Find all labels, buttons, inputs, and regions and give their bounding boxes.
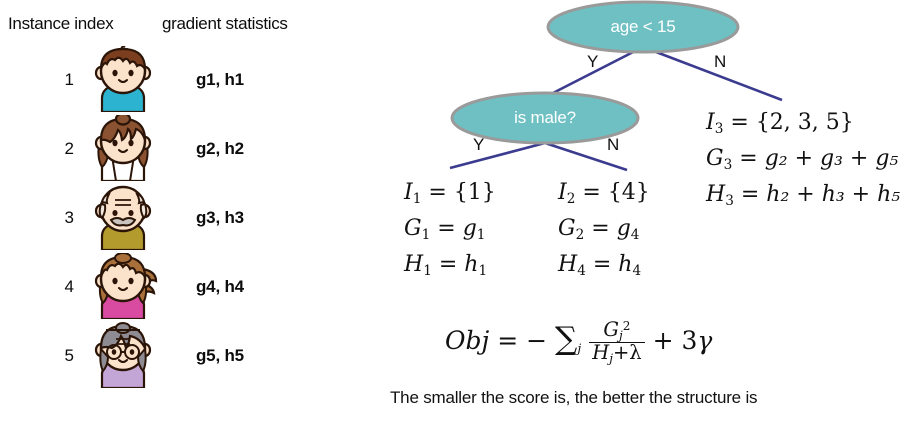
edge-label-root-yes: Y (587, 52, 598, 72)
tree-edge-child-yes (450, 143, 545, 168)
objective-formula: Obj = − ∑j Gj2 Hj+λ + 3γ (445, 320, 712, 365)
leaf1-G-symbol: G (404, 216, 422, 241)
leaf1-I-subscript: 1 (413, 191, 422, 207)
leaf3-g-terms: g₂ + g₃ + g₅ (765, 146, 899, 171)
tree-edge-root-no (643, 47, 782, 100)
leaf2-H-symbol: H (558, 252, 577, 277)
leaf2-I-subscript: 2 (567, 191, 576, 207)
objective-sigma-subscript: j (577, 340, 581, 355)
leaf3-H-subscript: 3 (725, 192, 734, 208)
leaf-1-statistics: I1 = {1} G1 = g1 H1 = h1 (404, 178, 496, 285)
objective-sigma: ∑ (555, 321, 577, 357)
leaf2-H-subscript: 4 (577, 262, 586, 278)
objective-gamma-coefficient: 3 (682, 326, 698, 355)
leaf1-G-subscript: 1 (422, 227, 431, 243)
objective-den-base: H (592, 341, 609, 364)
edge-label-child-yes: Y (473, 135, 484, 155)
tree-node-root-label: age < 15 (543, 17, 743, 37)
leaf2-G-subscript: 2 (576, 227, 585, 243)
leaf3-G-symbol: G (706, 146, 724, 171)
objective-equals: = (497, 326, 518, 355)
leaf3-h-terms: h₂ + h₃ + h₅ (766, 182, 900, 207)
objective-gamma-symbol: γ (697, 326, 712, 355)
leaf-2-gradient-sum: G2 = g4 (558, 214, 650, 250)
leaf-1-gradient-sum: G1 = g1 (404, 214, 496, 250)
leaf2-g-term-subscript: 4 (631, 227, 640, 243)
leaf-3-instance-set: I3 = {2, 3, 5} (706, 108, 900, 144)
edge-label-child-no: N (607, 135, 619, 155)
objective-minus-sign: − (526, 326, 547, 355)
leaf2-h-term-subscript: 4 (632, 262, 641, 278)
leaf-2-instance-set: I2 = {4} (558, 178, 650, 214)
leaf1-H-subscript: 1 (423, 262, 432, 278)
leaf1-g-term: g (463, 216, 477, 241)
leaf-2-hessian-sum: H4 = h4 (558, 250, 650, 286)
leaf2-I-symbol: I (558, 180, 567, 205)
leaf-1-hessian-sum: H1 = h1 (404, 250, 496, 286)
leaf-2-statistics: I2 = {4} G2 = g4 H4 = h4 (558, 178, 650, 285)
leaf3-I-value: {2, 3, 5} (756, 110, 854, 135)
leaf1-h-term: h (464, 252, 478, 277)
objective-plus-sign: + (653, 326, 674, 355)
leaf-3-statistics: I3 = {2, 3, 5} G3 = g₂ + g₃ + g₅ H3 = h₂… (706, 108, 900, 215)
objective-num-base: G (603, 318, 619, 341)
caption-text: The smaller the score is, the better the… (390, 388, 757, 408)
edge-label-root-no: N (714, 52, 726, 72)
leaf2-I-value: {4} (608, 180, 650, 205)
tree-node-is-male-label: is male? (445, 108, 645, 128)
objective-fraction: Gj2 Hj+λ (589, 320, 644, 365)
leaf1-h-term-subscript: 1 (478, 262, 487, 278)
leaf-3-hessian-sum: H3 = h₂ + h₃ + h₅ (706, 180, 900, 216)
objective-lhs: Obj (445, 326, 489, 355)
leaf-3-gradient-sum: G3 = g₂ + g₃ + g₅ (706, 144, 900, 180)
leaf-1-instance-set: I1 = {1} (404, 178, 496, 214)
objective-num-superscript: 2 (623, 319, 631, 333)
leaf2-g-term: g (617, 216, 631, 241)
leaf1-I-value: {1} (454, 180, 496, 205)
leaf3-G-subscript: 3 (724, 157, 733, 173)
leaf1-g-term-subscript: 1 (477, 227, 486, 243)
leaf3-I-subscript: 3 (715, 121, 724, 137)
objective-fraction-numerator: Gj2 (589, 320, 644, 342)
leaf2-h-term: h (618, 252, 632, 277)
leaf2-G-symbol: G (558, 216, 576, 241)
leaf1-H-symbol: H (404, 252, 423, 277)
leaf3-H-symbol: H (706, 182, 725, 207)
leaf3-I-symbol: I (706, 110, 715, 135)
objective-fraction-denominator: Hj+λ (589, 342, 644, 365)
objective-den-rest: +λ (613, 341, 642, 364)
leaf1-I-symbol: I (404, 180, 413, 205)
